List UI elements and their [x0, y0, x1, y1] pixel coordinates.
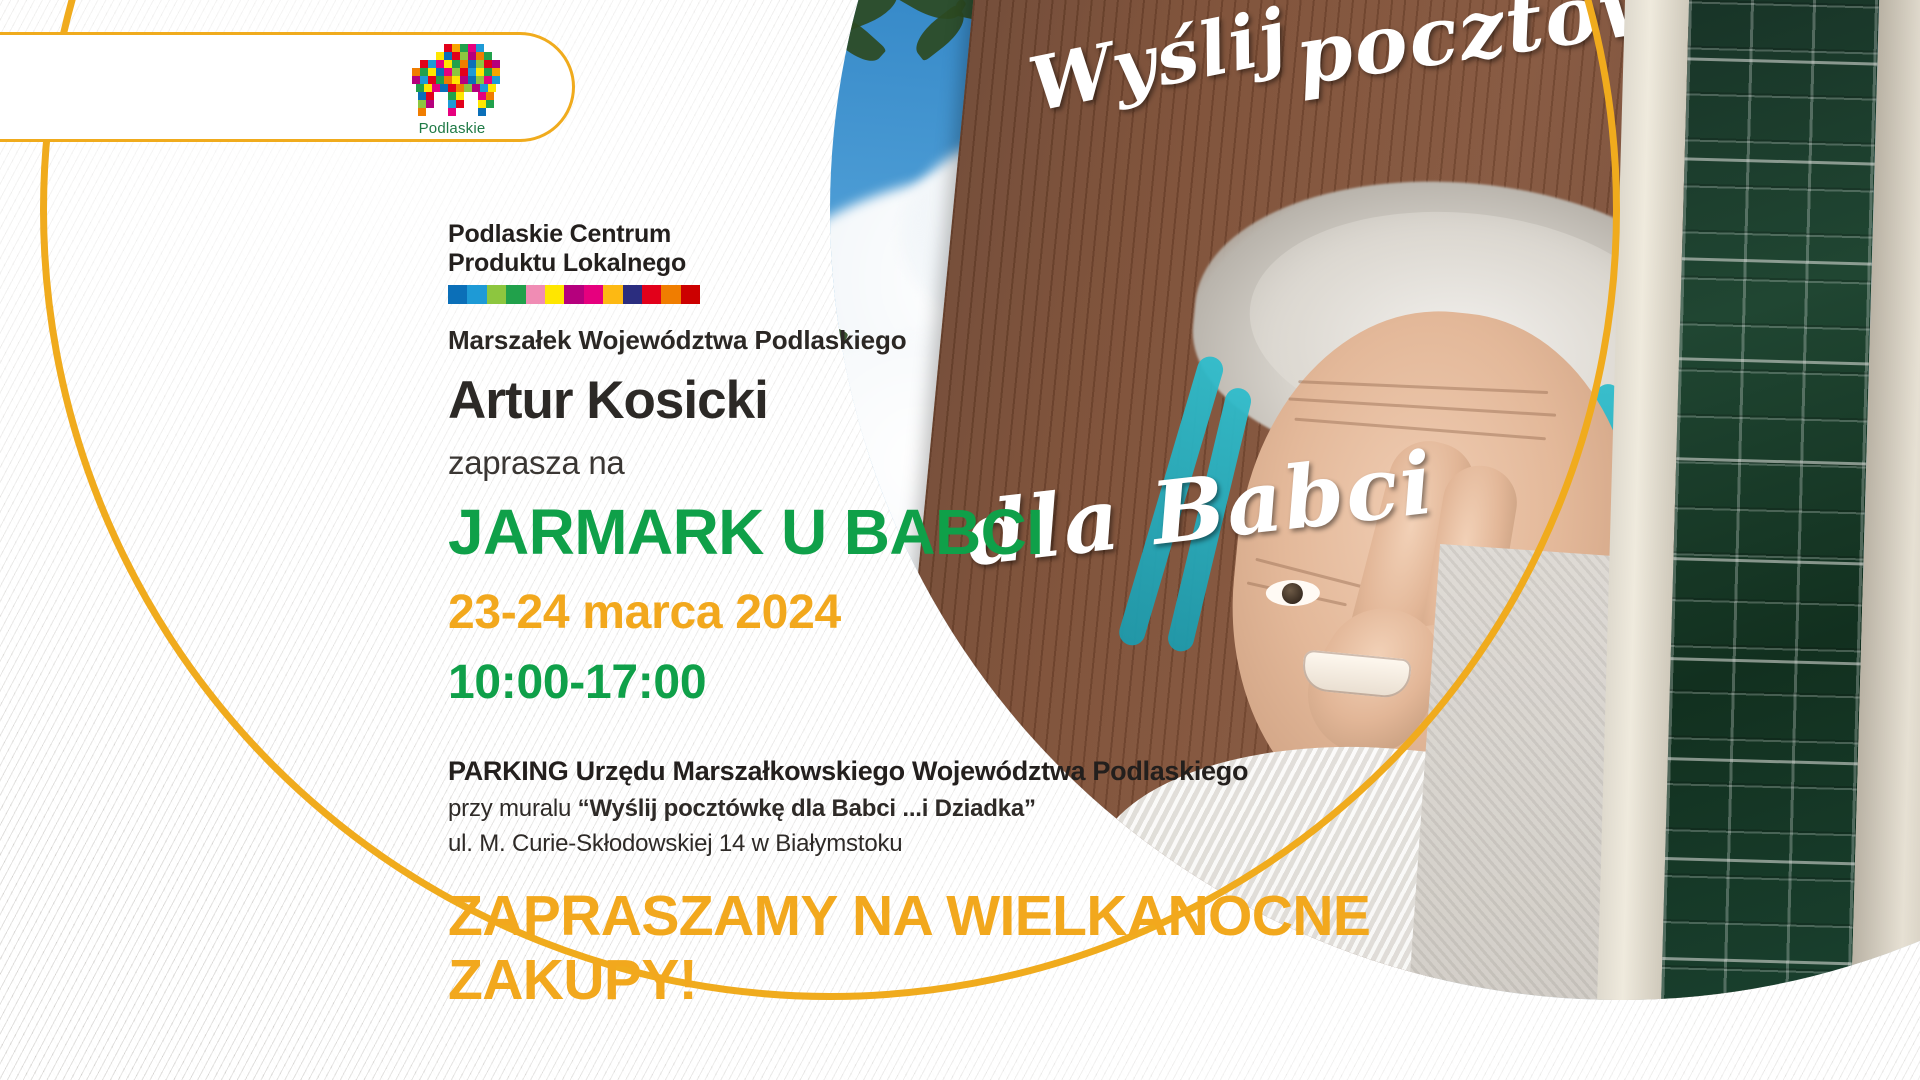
marshal-role: Marszałek Województwa Podlaskiego	[448, 325, 907, 356]
organisation-title-line1: Podlaskie Centrum	[448, 220, 671, 248]
podlaskie-logo-badge: Podlaskie	[0, 32, 575, 142]
organisation-title: Podlaskie Centrum Produktu Lokalnego	[448, 220, 708, 278]
venue-mural-name: “Wyślij pocztówkę dla Babci ...i Dziadka…	[578, 795, 1036, 822]
podlaskie-logo: Podlaskie	[392, 42, 512, 137]
venue-mural-prefix: przy muralu	[448, 795, 578, 822]
mural-script-line-1: Wyślij	[1022, 0, 1295, 129]
marshal-name: Artur Kosicki	[448, 370, 768, 431]
event-dates: 23-24 marca 2024	[448, 585, 841, 640]
venue-place: PARKING Urzędu Marszałkowskiego Wojewódz…	[448, 756, 1248, 787]
organisation-title-line2: Produktu Lokalnego	[448, 249, 686, 277]
poster-canvas: Wyślij pocztówkę dla Babci	[0, 0, 1920, 1080]
organisation-color-bar	[448, 285, 700, 304]
podlaskie-bison-mosaic-icon	[392, 42, 512, 118]
organisation-block: Podlaskie Centrum Produktu Lokalnego	[448, 220, 708, 304]
glass-office-building	[1594, 0, 1920, 1080]
venue-street: ul. M. Curie-Skłodowskiej 14 w Białymsto…	[448, 830, 902, 858]
cta-line-2: ZAKUPY!	[448, 949, 1568, 1013]
cta-line-1: ZAPRASZAMY NA WIELKANOCNE	[448, 885, 1568, 949]
event-title: JARMARK U BABCI	[448, 495, 1043, 569]
venue-mural-line: przy muralu “Wyślij pocztówkę dla Babci …	[448, 795, 1036, 823]
event-hours: 10:00-17:00	[448, 655, 706, 710]
invites-text: zaprasza na	[448, 444, 624, 482]
podlaskie-logo-label: Podlaskie	[419, 120, 486, 137]
call-to-action: ZAPRASZAMY NA WIELKANOCNE ZAKUPY!	[448, 885, 1568, 1013]
